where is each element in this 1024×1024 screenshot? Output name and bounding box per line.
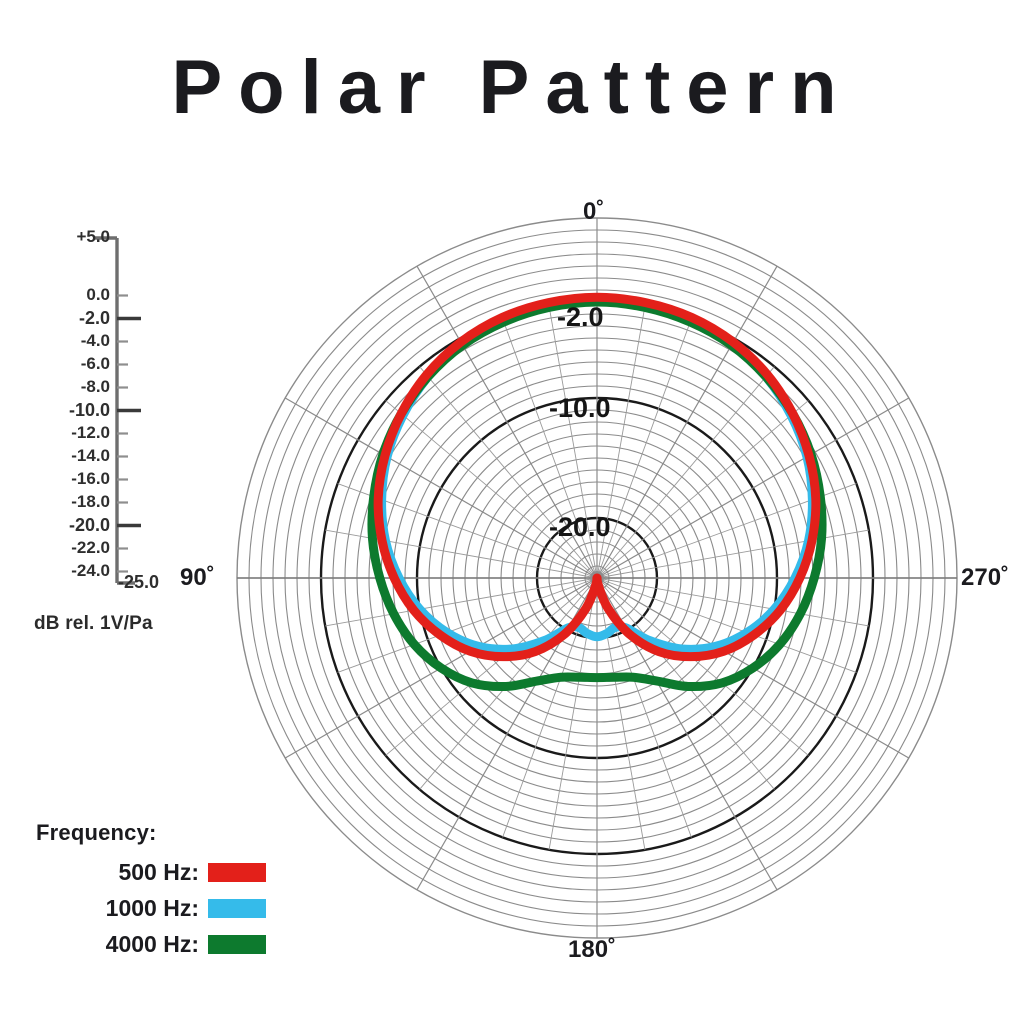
ring-label-minus2: -2.0 — [557, 302, 604, 333]
legend-item-500hz[interactable]: 500 Hz: — [36, 856, 266, 888]
db-tick-minus100: -10.0 — [18, 400, 110, 421]
db-tick-minus120: -12.0 — [18, 423, 110, 443]
db-tick-minus160: -16.0 — [18, 469, 110, 489]
angle-label-180: 180˚ — [568, 936, 616, 964]
legend-heading: Frequency: — [36, 820, 266, 846]
ring-label-minus10: -10.0 — [549, 393, 611, 424]
legend-item-1000hz[interactable]: 1000 Hz: — [36, 892, 266, 924]
polar-pattern-figure: Polar Pattern dB rel. 1V/Pa 0˚ 90˚ 270˚ … — [0, 0, 1024, 1024]
db-tick-minus40: -4.0 — [18, 331, 110, 351]
legend-label-1000hz: 1000 Hz: — [106, 895, 199, 922]
db-tick-minus250: -25.0 — [118, 572, 188, 593]
angle-label-0: 0˚ — [583, 198, 604, 226]
legend-label-4000hz: 4000 Hz: — [106, 931, 199, 958]
db-tick-minus20: -2.0 — [18, 308, 110, 329]
legend-swatch-4000hz — [208, 935, 266, 954]
db-tick-minus200: -20.0 — [18, 515, 110, 536]
db-tick-00: 0.0 — [18, 285, 110, 305]
db-tick-50: +5.0 — [18, 227, 110, 247]
db-tick-minus80: -8.0 — [18, 377, 110, 397]
legend-label-500hz: 500 Hz: — [118, 859, 199, 886]
db-tick-minus180: -18.0 — [18, 492, 110, 512]
db-tick-minus240: -24.0 — [18, 561, 110, 581]
legend-item-4000hz[interactable]: 4000 Hz: — [36, 928, 266, 960]
legend-swatch-500hz — [208, 863, 266, 882]
db-tick-minus220: -22.0 — [18, 538, 110, 558]
db-unit-label: dB rel. 1V/Pa — [34, 613, 153, 635]
legend: Frequency: 500 Hz: 1000 Hz: 4000 Hz: — [36, 820, 266, 964]
angle-label-270: 270˚ — [961, 564, 1009, 592]
ring-label-minus20: -20.0 — [549, 512, 611, 543]
legend-swatch-1000hz — [208, 899, 266, 918]
db-tick-minus140: -14.0 — [18, 446, 110, 466]
db-tick-minus60: -6.0 — [18, 354, 110, 374]
